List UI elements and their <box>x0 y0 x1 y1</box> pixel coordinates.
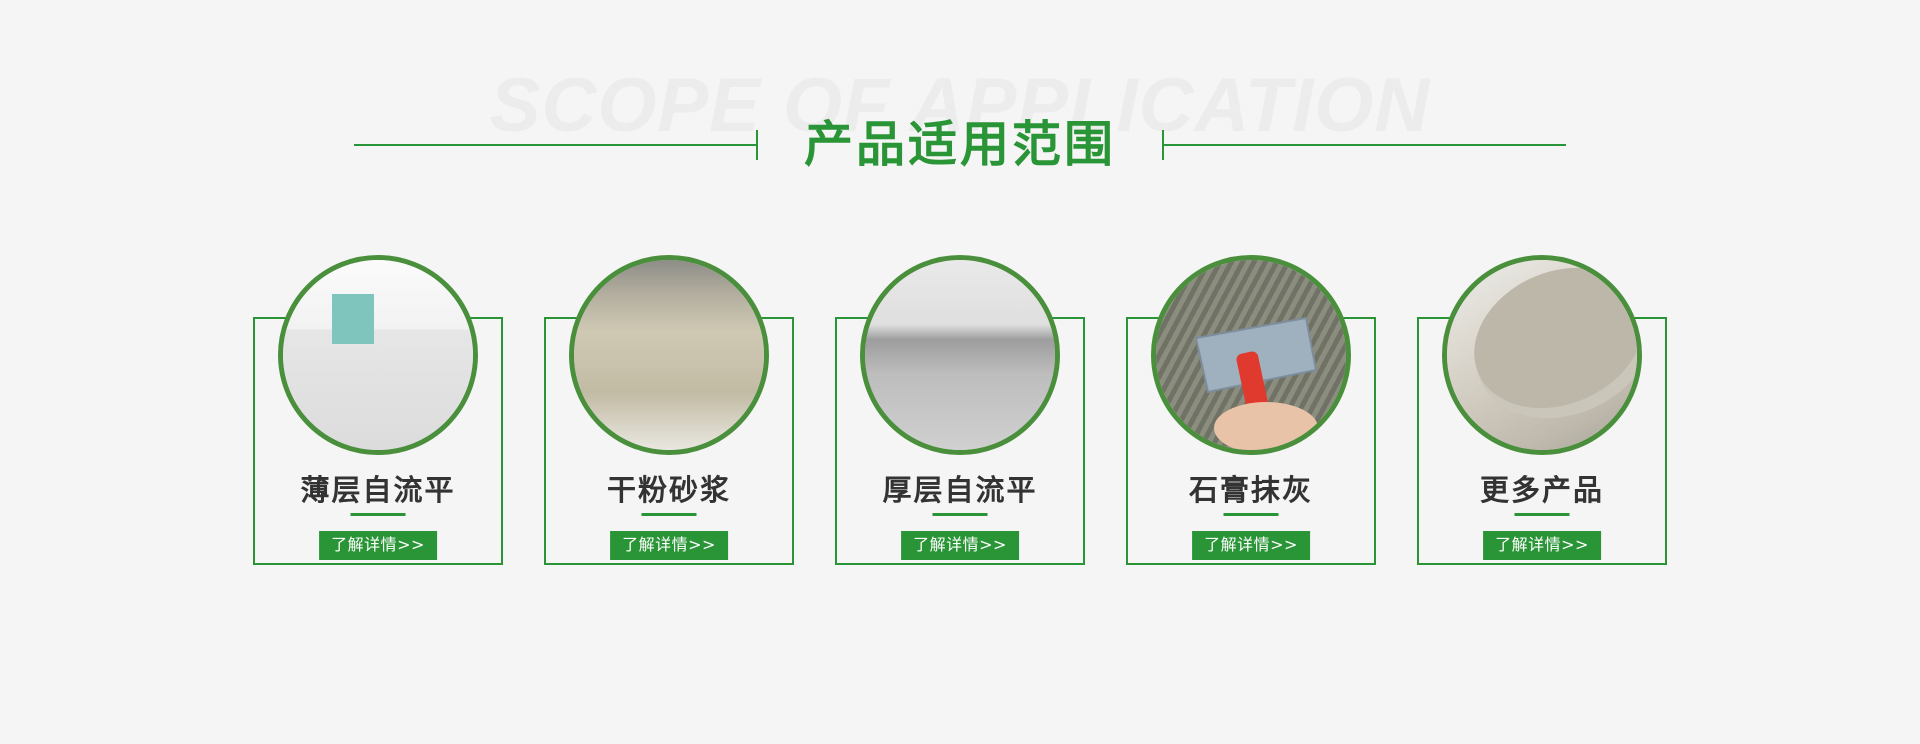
product-card[interactable]: 厚层自流平 了解详情>> <box>835 255 1085 565</box>
learn-more-button[interactable]: 了解详情>> <box>1483 531 1601 560</box>
card-divider <box>1515 513 1570 516</box>
card-image-circle[interactable] <box>569 255 769 455</box>
card-image-circle[interactable] <box>1442 255 1642 455</box>
product-card[interactable]: 薄层自流平 了解详情>> <box>253 255 503 565</box>
card-title: 干粉砂浆 <box>544 467 794 509</box>
card-divider <box>1224 513 1279 516</box>
product-card[interactable]: 更多产品 了解详情>> <box>1417 255 1667 565</box>
card-title: 厚层自流平 <box>835 467 1085 509</box>
title-rule-left <box>354 130 758 160</box>
title-rule-right <box>1162 130 1566 160</box>
card-image-circle[interactable] <box>1151 255 1351 455</box>
learn-more-button[interactable]: 了解详情>> <box>901 531 1019 560</box>
card-image-circle[interactable] <box>278 255 478 455</box>
product-card[interactable]: 石膏抹灰 了解详情>> <box>1126 255 1376 565</box>
title-rule-line-left <box>354 144 756 146</box>
thick-layer-self-leveling-floor-photo <box>865 260 1055 450</box>
card-divider <box>642 513 697 516</box>
learn-more-button[interactable]: 了解详情>> <box>1192 531 1310 560</box>
card-title: 薄层自流平 <box>253 467 503 509</box>
scope-of-application-section: SCOPE OF APPLICATION 产品适用范围 薄层自流平 了解详情 <box>0 0 1920 744</box>
card-title: 更多产品 <box>1417 467 1667 509</box>
title-row: 产品适用范围 <box>0 120 1920 169</box>
title-rule-line-right <box>1164 144 1566 146</box>
learn-more-button[interactable]: 了解详情>> <box>610 531 728 560</box>
dry-powder-mortar-photo <box>574 260 764 450</box>
more-products-photo <box>1447 260 1637 450</box>
card-title: 石膏抹灰 <box>1126 467 1376 509</box>
card-image-circle[interactable] <box>860 255 1060 455</box>
smooth-surface-icon <box>1447 260 1642 455</box>
learn-more-button[interactable]: 了解详情>> <box>319 531 437 560</box>
card-divider <box>351 513 406 516</box>
card-divider <box>933 513 988 516</box>
product-card[interactable]: 干粉砂浆 了解详情>> <box>544 255 794 565</box>
trowel-icon <box>1156 260 1351 455</box>
page-title: 产品适用范围 <box>758 120 1162 169</box>
product-card-list: 薄层自流平 了解详情>> 干粉砂浆 了解详情>> 厚层自流平 <box>0 255 1920 565</box>
section-header: SCOPE OF APPLICATION 产品适用范围 <box>0 0 1920 230</box>
gypsum-plastering-trowel-photo <box>1156 260 1346 450</box>
thin-layer-self-leveling-floor-photo <box>283 260 473 450</box>
